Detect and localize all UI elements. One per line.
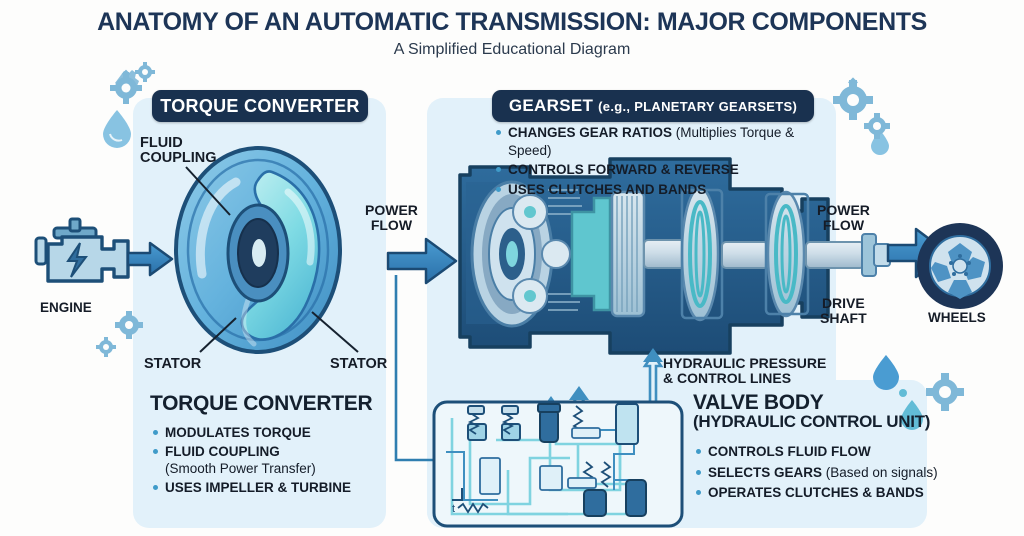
gearset-chip-label: GEARSET	[509, 96, 593, 116]
gearset-bullet-list: CHANGES GEAR RATIOS (Multiplies Torque &…	[495, 124, 825, 200]
torque-converter-bullet-list: MODULATES TORQUE FLUID COUPLING (Smooth …	[152, 424, 387, 497]
hydraulic-lines-label: HYDRAULIC PRESSURE & CONTROL LINES	[663, 356, 826, 386]
bullet-note: (Based on signals)	[826, 465, 938, 480]
valve-body-bullet-list: CONTROLS FLUID FLOW SELECTS GEARS (Based…	[695, 443, 995, 505]
gearset-chip-sublabel: (e.g., PLANETARY GEARSETS)	[598, 99, 797, 114]
engine-label: ENGINE	[40, 301, 92, 315]
power-flow-label-2: POWER FLOW	[817, 203, 870, 233]
list-item: USES CLUTCHES AND BANDS	[495, 181, 825, 199]
hydraulic-schematic-illustration: t	[434, 402, 682, 526]
list-item: FLUID COUPLING (Smooth Power Transfer)	[152, 443, 387, 478]
power-arrow-tc-to-gearset	[388, 239, 456, 283]
bullet-note: (Smooth Power Transfer)	[165, 460, 387, 478]
bullet-text: MODULATES TORQUE	[165, 425, 311, 440]
bullet-text: USES CLUTCHES AND BANDS	[508, 182, 706, 197]
page-subtitle: A Simplified Educational Diagram	[0, 41, 1024, 59]
bullet-text: FLUID COUPLING	[165, 444, 280, 459]
power-arrow-engine-to-tc	[128, 243, 172, 275]
list-item: OPERATES CLUTCHES & BANDS	[695, 484, 995, 502]
list-item: MODULATES TORQUE	[152, 424, 387, 442]
power-flow-label-1: POWER FLOW	[365, 203, 418, 233]
torque-converter-chip: TORQUE CONVERTER	[152, 90, 368, 122]
svg-text:t: t	[452, 503, 455, 515]
valve-body-heading-line1: VALVE BODY	[693, 391, 823, 414]
torque-converter-heading: TORQUE CONVERTER	[150, 392, 380, 416]
callout-stator-left: STATOR	[144, 357, 201, 372]
torque-converter-illustration	[176, 148, 358, 352]
bullet-text: SELECTS GEARS	[708, 465, 822, 480]
list-item: CONTROLS FLUID FLOW	[695, 443, 995, 461]
valve-body-heading: VALVE BODY (HYDRAULIC CONTROL UNIT)	[693, 392, 993, 431]
car-wheel-icon	[917, 223, 1003, 309]
bullet-text: CONTROLS FLUID FLOW	[708, 444, 871, 459]
infographic-canvas: t	[0, 0, 1024, 536]
page-title: ANATOMY OF AN AUTOMATIC TRANSMISSION: MA…	[0, 8, 1024, 37]
list-item: CONTROLS FORWARD & REVERSE	[495, 161, 825, 179]
list-item: CHANGES GEAR RATIOS (Multiplies Torque &…	[495, 124, 825, 159]
bullet-text: USES IMPELLER & TURBINE	[165, 480, 351, 495]
bullet-text: CONTROLS FORWARD & REVERSE	[508, 162, 739, 177]
engine-block-icon	[36, 219, 128, 281]
torque-converter-chip-label: TORQUE CONVERTER	[160, 96, 360, 117]
valve-body-heading-line2: (HYDRAULIC CONTROL UNIT)	[693, 413, 993, 430]
gearset-chip: GEARSET (e.g., PLANETARY GEARSETS)	[492, 90, 814, 122]
bullet-text: OPERATES CLUTCHES & BANDS	[708, 485, 924, 500]
drive-shaft-label: DRIVE SHAFT	[820, 296, 867, 326]
list-item: SELECTS GEARS (Based on signals)	[695, 464, 995, 482]
callout-stator-right: STATOR	[330, 357, 387, 372]
connector-line-tc-to-valvebody	[396, 275, 434, 460]
list-item: USES IMPELLER & TURBINE	[152, 479, 387, 497]
bullet-text: CHANGES GEAR RATIOS	[508, 125, 672, 140]
callout-fluid-coupling: FLUID COUPLING	[140, 136, 217, 167]
wheels-label: WHEELS	[928, 311, 986, 325]
